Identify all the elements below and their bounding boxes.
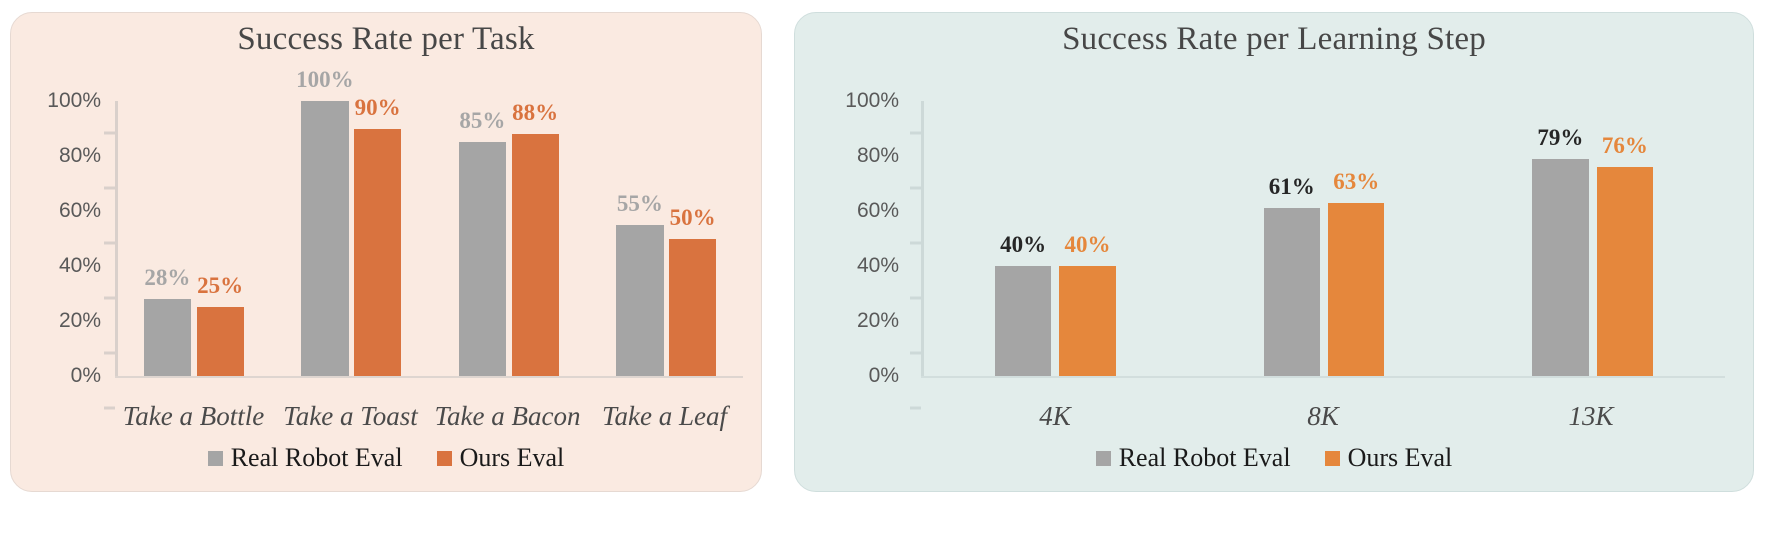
bar-value-label: 40% bbox=[1000, 232, 1046, 258]
bar-value-label: 61% bbox=[1269, 174, 1315, 200]
y-axis-tick bbox=[104, 187, 115, 190]
bar-value-label: 25% bbox=[197, 273, 243, 299]
bar[interactable] bbox=[616, 225, 663, 376]
y-axis-tick bbox=[910, 242, 921, 245]
bar-value-label: 85% bbox=[459, 108, 505, 134]
y-tick-label: 60% bbox=[857, 199, 899, 223]
bar-group: 40%40% bbox=[921, 101, 1190, 376]
bar-column[interactable]: 85% bbox=[459, 101, 506, 376]
legend-left: Real Robot EvalOurs Eval bbox=[11, 443, 761, 473]
bar[interactable] bbox=[144, 299, 191, 376]
bar-column[interactable]: 76% bbox=[1597, 101, 1653, 376]
y-axis-tick bbox=[104, 297, 115, 300]
y-axis-tick bbox=[104, 407, 115, 410]
y-tick-label: 100% bbox=[845, 89, 899, 113]
x-category-label: Take a Toast bbox=[283, 401, 418, 432]
figure-container: Success Rate per Task 100%80%60%40%20%0%… bbox=[0, 0, 1774, 550]
bar[interactable] bbox=[1059, 266, 1115, 376]
y-axis-tick bbox=[104, 352, 115, 355]
legend-label: Real Robot Eval bbox=[1119, 443, 1291, 473]
bar-value-label: 63% bbox=[1333, 169, 1379, 195]
plot-area-right: 100%80%60%40%20%0% 40%40%61%63%79%76% bbox=[795, 69, 1755, 389]
bar[interactable] bbox=[354, 129, 401, 377]
bar-value-label: 50% bbox=[670, 205, 716, 231]
y-tick-label: 40% bbox=[59, 254, 101, 278]
bar[interactable] bbox=[1597, 167, 1653, 376]
y-tick-label: 100% bbox=[47, 89, 101, 113]
x-category-label: Take a Leaf bbox=[602, 401, 727, 432]
bar-column[interactable]: 25% bbox=[197, 101, 244, 376]
x-category-label: Take a Bottle bbox=[123, 401, 265, 432]
legend-item[interactable]: Ours Eval bbox=[437, 443, 565, 473]
bar-column[interactable]: 40% bbox=[1059, 101, 1115, 376]
x-category-label: 8K bbox=[1307, 401, 1339, 432]
bar-column[interactable]: 50% bbox=[669, 101, 716, 376]
bar-group: 79%76% bbox=[1458, 101, 1727, 376]
bar-group: 100%90% bbox=[273, 101, 431, 376]
x-axis-baseline-right bbox=[921, 376, 1725, 378]
y-axis-tick bbox=[910, 132, 921, 135]
chart-title-left: Success Rate per Task bbox=[11, 21, 761, 58]
y-axis-labels-left: 100%80%60%40%20%0% bbox=[29, 69, 101, 389]
bar-group: 28%25% bbox=[115, 101, 273, 376]
bar-column[interactable]: 61% bbox=[1264, 101, 1320, 376]
bar-column[interactable]: 63% bbox=[1328, 101, 1384, 376]
bar[interactable] bbox=[512, 134, 559, 376]
bar[interactable] bbox=[459, 142, 506, 376]
bar-value-label: 79% bbox=[1537, 125, 1583, 151]
y-axis-labels-right: 100%80%60%40%20%0% bbox=[827, 69, 899, 389]
y-axis-tick bbox=[910, 297, 921, 300]
bar-value-label: 40% bbox=[1065, 232, 1111, 258]
chart-title-right: Success Rate per Learning Step bbox=[795, 21, 1753, 58]
legend-swatch-icon bbox=[1096, 451, 1111, 466]
bar[interactable] bbox=[1328, 203, 1384, 376]
y-axis-tick bbox=[910, 407, 921, 410]
bar-groups-right: 40%40%61%63%79%76% bbox=[921, 101, 1727, 376]
bar-value-label: 76% bbox=[1602, 133, 1648, 159]
legend-item[interactable]: Ours Eval bbox=[1325, 443, 1453, 473]
legend-right: Real Robot EvalOurs Eval bbox=[795, 443, 1753, 473]
bar-value-label: 88% bbox=[512, 100, 558, 126]
y-tick-label: 20% bbox=[857, 309, 899, 333]
chart-panel-success-rate-per-task: Success Rate per Task 100%80%60%40%20%0%… bbox=[10, 12, 762, 492]
bar[interactable] bbox=[301, 101, 348, 376]
bar-group: 55%50% bbox=[588, 101, 746, 376]
legend-label: Real Robot Eval bbox=[231, 443, 403, 473]
chart-panel-success-rate-per-learning-step: Success Rate per Learning Step 100%80%60… bbox=[794, 12, 1754, 492]
bar-group: 61%63% bbox=[1190, 101, 1459, 376]
y-tick-label: 0% bbox=[71, 364, 101, 388]
plot-area-left: 100%80%60%40%20%0% 28%25%100%90%85%88%55… bbox=[11, 69, 763, 389]
bar-column[interactable]: 88% bbox=[512, 101, 559, 376]
bar[interactable] bbox=[1264, 208, 1320, 376]
bar[interactable] bbox=[995, 266, 1051, 376]
bar-column[interactable]: 28% bbox=[144, 101, 191, 376]
bar-column[interactable]: 79% bbox=[1532, 101, 1588, 376]
bar-value-label: 28% bbox=[144, 265, 190, 291]
x-axis-baseline-left bbox=[115, 376, 743, 378]
y-tick-label: 20% bbox=[59, 309, 101, 333]
y-tick-label: 40% bbox=[857, 254, 899, 278]
x-category-label: 13K bbox=[1568, 401, 1613, 432]
y-axis-tick bbox=[910, 352, 921, 355]
bar-value-label: 55% bbox=[617, 191, 663, 217]
y-tick-label: 0% bbox=[869, 364, 899, 388]
legend-label: Ours Eval bbox=[1348, 443, 1453, 473]
bar[interactable] bbox=[1532, 159, 1588, 376]
bar-value-label: 90% bbox=[355, 95, 401, 121]
bar-column[interactable]: 90% bbox=[354, 101, 401, 376]
legend-label: Ours Eval bbox=[460, 443, 565, 473]
legend-item[interactable]: Real Robot Eval bbox=[1096, 443, 1291, 473]
bar-groups-left: 28%25%100%90%85%88%55%50% bbox=[115, 101, 745, 376]
y-axis-tick bbox=[104, 242, 115, 245]
bar-group: 85%88% bbox=[430, 101, 588, 376]
bar[interactable] bbox=[669, 239, 716, 377]
legend-swatch-icon bbox=[1325, 451, 1340, 466]
y-axis-tick bbox=[910, 187, 921, 190]
bar-column[interactable]: 100% bbox=[301, 101, 348, 376]
bar-column[interactable]: 40% bbox=[995, 101, 1051, 376]
y-tick-label: 60% bbox=[59, 199, 101, 223]
bar[interactable] bbox=[197, 307, 244, 376]
legend-swatch-icon bbox=[437, 451, 452, 466]
x-category-label: 4K bbox=[1039, 401, 1071, 432]
y-tick-label: 80% bbox=[857, 144, 899, 168]
bar-value-label: 100% bbox=[296, 67, 354, 93]
bar-column[interactable]: 55% bbox=[616, 101, 663, 376]
legend-swatch-icon bbox=[208, 451, 223, 466]
x-category-label: Take a Bacon bbox=[435, 401, 581, 432]
legend-item[interactable]: Real Robot Eval bbox=[208, 443, 403, 473]
y-tick-label: 80% bbox=[59, 144, 101, 168]
y-axis-tick bbox=[104, 132, 115, 135]
